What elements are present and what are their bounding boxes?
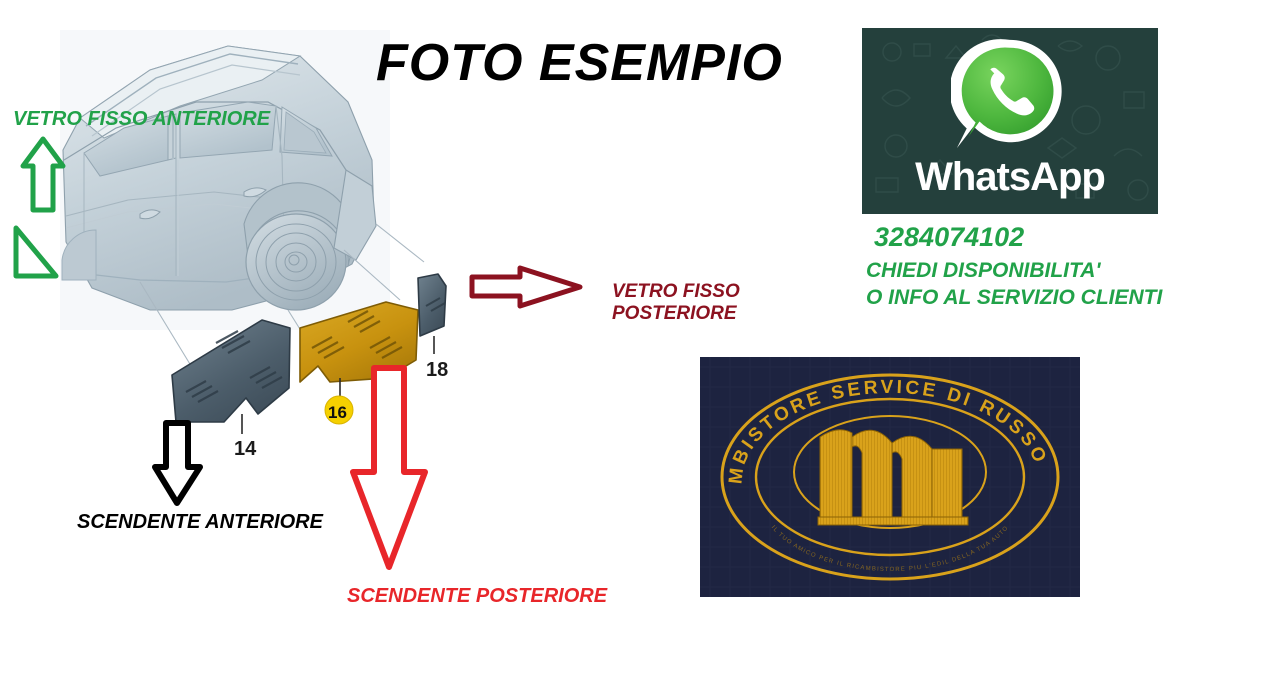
shop-logo: MRICAMBISTORE SERVICE DI RUSSO MARCO IL …: [700, 357, 1080, 597]
page-title: FOTO ESEMPIO: [376, 33, 783, 93]
label-vetro-fisso-posteriore: VETRO FISSO POSTERIORE: [612, 281, 740, 326]
part-18-glass: [418, 274, 446, 336]
label-scendente-posteriore: SCENDENTE POSTERIORE: [347, 585, 607, 609]
label-vetro-fisso-posteriore-line2: POSTERIORE: [612, 303, 740, 325]
poster-canvas: 14 16 17 18: [0, 0, 1264, 678]
shop-logo-graphic: MRICAMBISTORE SERVICE DI RUSSO MARCO IL …: [700, 357, 1080, 597]
label-vetro-fisso-posteriore-line1: VETRO FISSO: [612, 281, 740, 303]
part-14-glass: [172, 320, 290, 422]
contact-info: 3284074102 CHIEDI DISPONIBILITA' O INFO …: [866, 222, 1162, 312]
label-vetro-fisso-anteriore: VETRO FISSO ANTERIORE: [13, 108, 270, 132]
svg-text:16: 16: [328, 403, 347, 422]
part-17-fastener: [376, 367, 398, 404]
whatsapp-banner: WhatsApp: [862, 28, 1158, 214]
svg-text:14: 14: [234, 438, 257, 460]
svg-text:17: 17: [372, 403, 394, 425]
contact-line-availability: CHIEDI DISPONIBILITA': [866, 257, 1162, 284]
whatsapp-icon: [951, 36, 1069, 154]
label-scendente-anteriore: SCENDENTE ANTERIORE: [77, 511, 323, 535]
contact-line-customer-service: O INFO AL SERVIZIO CLIENTI: [866, 284, 1162, 311]
svg-text:18: 18: [426, 359, 448, 381]
whatsapp-wordmark: WhatsApp: [862, 155, 1158, 200]
phone-number[interactable]: 3284074102: [866, 222, 1162, 253]
